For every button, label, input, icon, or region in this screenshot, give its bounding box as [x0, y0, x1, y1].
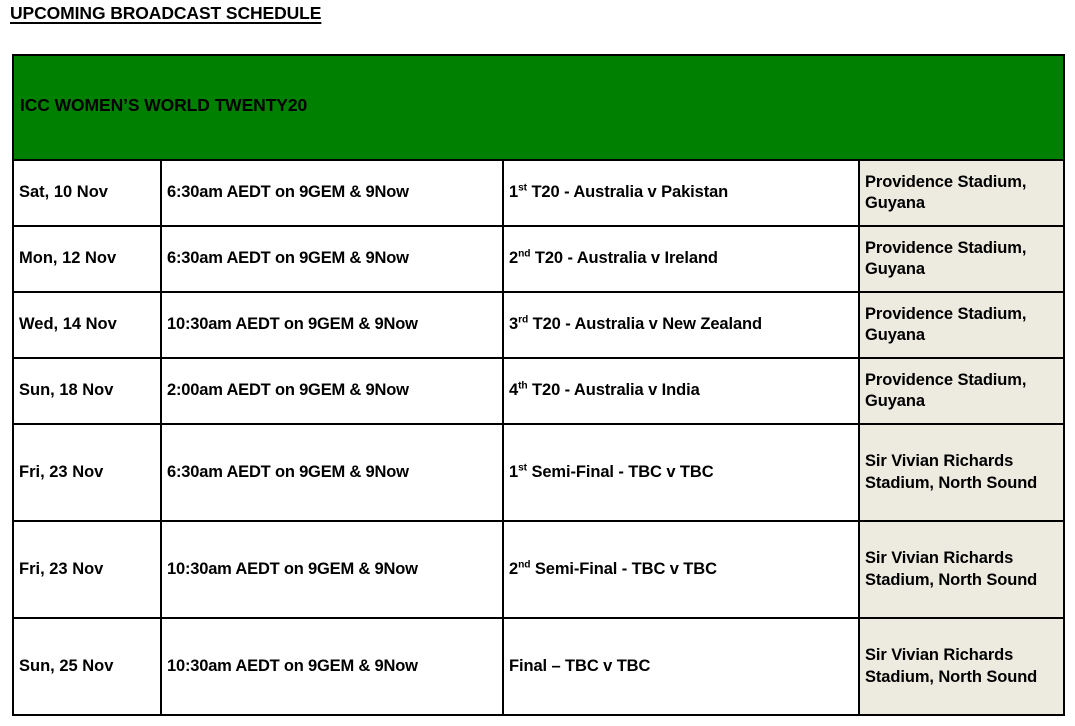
match-description: T20 - Australia v Pakistan — [527, 183, 728, 201]
schedule-table-container: ICC WOMEN’S WORLD TWENTY20 Sat, 10 Nov6:… — [12, 54, 1063, 716]
cell-time-channel: 6:30am AEDT on 9GEM & 9Now — [161, 226, 503, 292]
cell-match: 4th T20 - Australia v India — [503, 358, 859, 424]
broadcast-schedule-page: UPCOMING BROADCAST SCHEDULE ICC WOMEN’S … — [0, 0, 1075, 726]
cell-venue: Providence Stadium, Guyana — [859, 292, 1064, 358]
cell-match: 1st Semi-Final - TBC v TBC — [503, 424, 859, 521]
cell-date: Sun, 18 Nov — [13, 358, 161, 424]
match-description: T20 - Australia v India — [528, 381, 700, 399]
cell-date: Sun, 25 Nov — [13, 618, 161, 715]
cell-date: Wed, 14 Nov — [13, 292, 161, 358]
cell-match: Final – TBC v TBC — [503, 618, 859, 715]
cell-match: 1st T20 - Australia v Pakistan — [503, 160, 859, 226]
cell-time-channel: 6:30am AEDT on 9GEM & 9Now — [161, 424, 503, 521]
match-ordinal-suffix: th — [518, 381, 527, 392]
cell-match: 3rd T20 - Australia v New Zealand — [503, 292, 859, 358]
schedule-table-body: ICC WOMEN’S WORLD TWENTY20 Sat, 10 Nov6:… — [13, 55, 1064, 715]
cell-match: 2nd Semi-Final - TBC v TBC — [503, 521, 859, 618]
match-ordinal-number: 3 — [509, 315, 518, 333]
match-ordinal-suffix: st — [518, 462, 527, 473]
table-row: Wed, 14 Nov10:30am AEDT on 9GEM & 9Now3r… — [13, 292, 1064, 358]
match-ordinal-number: 2 — [509, 249, 518, 267]
match-ordinal-number: 1 — [509, 463, 518, 481]
cell-match: 2nd T20 - Australia v Ireland — [503, 226, 859, 292]
match-description: T20 - Australia v New Zealand — [528, 315, 762, 333]
cell-venue: Sir Vivian Richards Stadium, North Sound — [859, 424, 1064, 521]
cell-venue: Providence Stadium, Guyana — [859, 226, 1064, 292]
tournament-banner-row: ICC WOMEN’S WORLD TWENTY20 — [13, 55, 1064, 160]
cell-venue: Sir Vivian Richards Stadium, North Sound — [859, 521, 1064, 618]
table-row: Sun, 25 Nov10:30am AEDT on 9GEM & 9NowFi… — [13, 618, 1064, 715]
cell-time-channel: 2:00am AEDT on 9GEM & 9Now — [161, 358, 503, 424]
cell-time-channel: 10:30am AEDT on 9GEM & 9Now — [161, 618, 503, 715]
match-ordinal-number: 1 — [509, 183, 518, 201]
page-title: UPCOMING BROADCAST SCHEDULE — [10, 3, 321, 24]
broadcast-schedule-table: ICC WOMEN’S WORLD TWENTY20 Sat, 10 Nov6:… — [12, 54, 1065, 716]
table-row: Mon, 12 Nov6:30am AEDT on 9GEM & 9Now2nd… — [13, 226, 1064, 292]
match-description: T20 - Australia v Ireland — [530, 249, 718, 267]
tournament-banner-cell: ICC WOMEN’S WORLD TWENTY20 — [13, 55, 1064, 160]
table-row: Sun, 18 Nov2:00am AEDT on 9GEM & 9Now4th… — [13, 358, 1064, 424]
cell-date: Mon, 12 Nov — [13, 226, 161, 292]
table-row: Fri, 23 Nov6:30am AEDT on 9GEM & 9Now1st… — [13, 424, 1064, 521]
cell-venue: Providence Stadium, Guyana — [859, 358, 1064, 424]
table-row: Fri, 23 Nov10:30am AEDT on 9GEM & 9Now2n… — [13, 521, 1064, 618]
match-ordinal-suffix: nd — [518, 559, 530, 570]
cell-date: Sat, 10 Nov — [13, 160, 161, 226]
cell-date: Fri, 23 Nov — [13, 424, 161, 521]
table-row: Sat, 10 Nov6:30am AEDT on 9GEM & 9Now1st… — [13, 160, 1064, 226]
match-ordinal-suffix: rd — [518, 315, 528, 326]
match-ordinal-number: 4 — [509, 381, 518, 399]
cell-date: Fri, 23 Nov — [13, 521, 161, 618]
match-description: Semi-Final - TBC v TBC — [530, 560, 717, 578]
match-description: Semi-Final - TBC v TBC — [527, 463, 714, 481]
tournament-name: ICC WOMEN’S WORLD TWENTY20 — [20, 95, 307, 115]
match-ordinal-suffix: st — [518, 183, 527, 194]
match-ordinal-suffix: nd — [518, 249, 530, 260]
cell-venue: Sir Vivian Richards Stadium, North Sound — [859, 618, 1064, 715]
match-description: Final – TBC v TBC — [509, 657, 650, 675]
cell-venue: Providence Stadium, Guyana — [859, 160, 1064, 226]
cell-time-channel: 6:30am AEDT on 9GEM & 9Now — [161, 160, 503, 226]
cell-time-channel: 10:30am AEDT on 9GEM & 9Now — [161, 292, 503, 358]
cell-time-channel: 10:30am AEDT on 9GEM & 9Now — [161, 521, 503, 618]
match-ordinal-number: 2 — [509, 560, 518, 578]
